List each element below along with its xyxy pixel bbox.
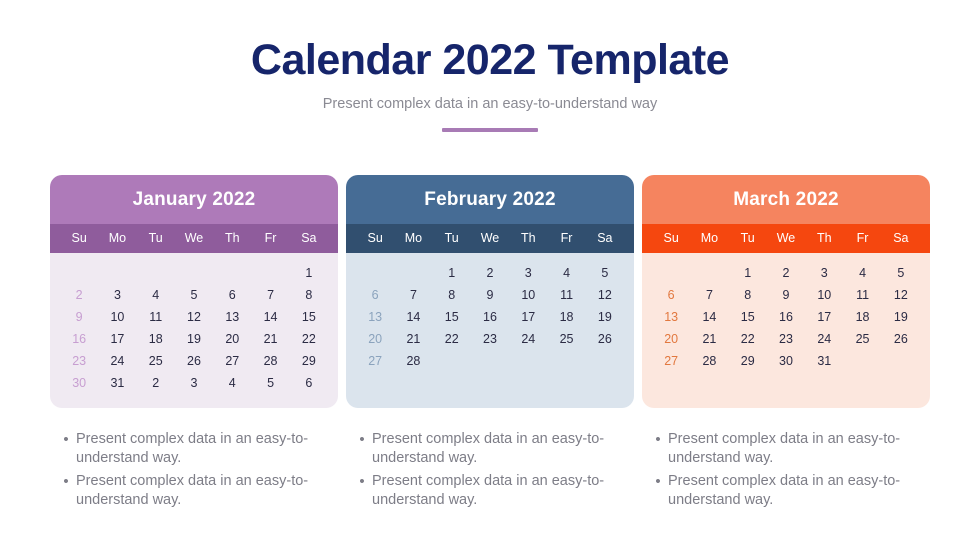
calendar-day-empty	[98, 265, 136, 282]
calendar-month-title: February 2022	[346, 175, 634, 224]
calendar-day-cell[interactable]: 3	[805, 265, 843, 282]
calendar-day-cell[interactable]: 5	[175, 287, 213, 304]
calendar-day-cell[interactable]: 14	[394, 309, 432, 326]
weekday-label-mo: Mo	[690, 231, 728, 245]
calendar-day-cell[interactable]: 3	[98, 287, 136, 304]
calendar-day-empty	[471, 375, 509, 392]
calendar-day-cell[interactable]: 24	[98, 353, 136, 370]
calendar-day-cell[interactable]: 1	[729, 265, 767, 282]
calendar-day-cell[interactable]: 24	[805, 331, 843, 348]
calendar-day-cell[interactable]: 25	[843, 331, 881, 348]
calendar-day-cell[interactable]: 23	[60, 353, 98, 370]
calendar-day-cell[interactable]: 26	[175, 353, 213, 370]
weekday-label-fr: Fr	[251, 231, 289, 245]
calendar-day-cell[interactable]: 28	[394, 353, 432, 370]
weekday-label-sa: Sa	[290, 231, 328, 245]
calendar-day-cell[interactable]: 17	[98, 331, 136, 348]
calendar-day-cell[interactable]: 11	[137, 309, 175, 326]
calendar-day-cell[interactable]: 14	[251, 309, 289, 326]
calendar-day-cell[interactable]: 23	[471, 331, 509, 348]
calendar-day-empty	[433, 353, 471, 370]
calendar-day-cell[interactable]: 10	[805, 287, 843, 304]
slide-header: Calendar 2022 Template Present complex d…	[0, 0, 980, 132]
list-item-text: Present complex data in an easy-to-under…	[668, 472, 906, 510]
weekday-label-we: We	[767, 231, 805, 245]
calendar-day-empty	[60, 265, 98, 282]
calendar-day-cell[interactable]: 24	[509, 331, 547, 348]
calendar-day-cell[interactable]: 18	[547, 309, 585, 326]
title-divider	[442, 128, 538, 132]
calendar-day-cell[interactable]: 21	[394, 331, 432, 348]
weekday-label-tu: Tu	[729, 231, 767, 245]
calendar-day-empty	[843, 375, 881, 392]
list-item-text: Present complex data in an easy-to-under…	[76, 430, 314, 468]
calendar-day-empty	[509, 353, 547, 370]
calendar-day-cell[interactable]: 10	[98, 309, 136, 326]
calendar-day-cell[interactable]: 15	[290, 309, 328, 326]
calendar-day-cell[interactable]: 1	[433, 265, 471, 282]
calendar-day-cell[interactable]: 28	[251, 353, 289, 370]
calendar-day-cell[interactable]: 30	[60, 375, 98, 392]
weekday-label-su: Su	[60, 231, 98, 245]
calendar-day-empty	[729, 375, 767, 392]
calendar-day-empty	[882, 353, 920, 370]
calendar-day-cell[interactable]: 22	[729, 331, 767, 348]
calendar-day-cell[interactable]: 13	[652, 309, 690, 326]
weekday-label-mo: Mo	[98, 231, 136, 245]
calendar-day-empty	[251, 265, 289, 282]
calendar-card-january: January 2022SuMoTuWeThFrSa 1234567891011…	[50, 175, 338, 408]
calendar-day-empty	[394, 265, 432, 282]
calendar-day-cell[interactable]: 18	[137, 331, 175, 348]
calendar-day-cell[interactable]: 8	[729, 287, 767, 304]
calendar-day-empty	[394, 375, 432, 392]
calendar-day-empty	[690, 265, 728, 282]
calendar-day-cell[interactable]: 2	[471, 265, 509, 282]
calendar-day-empty	[547, 375, 585, 392]
calendar-day-cell[interactable]: 13	[356, 309, 394, 326]
calendar-day-cell[interactable]: 31	[805, 353, 843, 370]
calendar-day-empty	[767, 375, 805, 392]
calendar-day-empty	[586, 353, 624, 370]
calendar-body: 1234567891011121314151617181920212223242…	[50, 253, 338, 408]
notes-column: •Present complex data in an easy-to-unde…	[346, 430, 634, 514]
calendar-weekday-header: SuMoTuWeThFrSa	[50, 224, 338, 253]
calendar-day-empty	[509, 375, 547, 392]
calendar-weekday-header: SuMoTuWeThFrSa	[346, 224, 634, 253]
list-item-text: Present complex data in an easy-to-under…	[372, 430, 610, 468]
page-title: Calendar 2022 Template	[0, 36, 980, 84]
weekday-label-th: Th	[509, 231, 547, 245]
notes-column: •Present complex data in an easy-to-unde…	[50, 430, 338, 514]
calendar-day-cell[interactable]: 5	[251, 375, 289, 392]
list-item-text: Present complex data in an easy-to-under…	[76, 472, 314, 510]
calendar-day-empty	[356, 375, 394, 392]
weekday-label-th: Th	[213, 231, 251, 245]
calendar-card-february: February 2022SuMoTuWeThFrSa 123456789101…	[346, 175, 634, 408]
calendar-day-cell[interactable]: 23	[767, 331, 805, 348]
calendar-day-cell[interactable]: 12	[882, 287, 920, 304]
calendar-day-cell[interactable]: 2	[60, 287, 98, 304]
weekday-label-tu: Tu	[137, 231, 175, 245]
notes-column: •Present complex data in an easy-to-unde…	[642, 430, 930, 514]
calendar-day-cell[interactable]: 4	[137, 287, 175, 304]
weekday-label-fr: Fr	[843, 231, 881, 245]
calendar-day-empty	[882, 375, 920, 392]
bullet-icon: •	[56, 430, 76, 449]
calendar-day-cell[interactable]: 20	[213, 331, 251, 348]
calendar-day-empty	[213, 265, 251, 282]
calendar-day-empty	[471, 353, 509, 370]
bullet-icon: •	[648, 430, 668, 449]
list-item: •Present complex data in an easy-to-unde…	[352, 430, 634, 468]
calendar-day-grid: 1234567891011121314151617181920212223242…	[60, 265, 328, 392]
calendar-day-empty	[652, 265, 690, 282]
calendar-day-cell[interactable]: 27	[652, 353, 690, 370]
calendar-day-cell[interactable]: 12	[175, 309, 213, 326]
list-item: •Present complex data in an easy-to-unde…	[56, 430, 338, 468]
calendar-day-cell[interactable]: 1	[290, 265, 328, 282]
bullet-icon: •	[648, 472, 668, 491]
calendar-card-march: March 2022SuMoTuWeThFrSa 123456789101112…	[642, 175, 930, 408]
calendar-day-cell[interactable]: 4	[547, 265, 585, 282]
calendar-day-cell[interactable]: 7	[690, 287, 728, 304]
list-item: •Present complex data in an easy-to-unde…	[56, 472, 338, 510]
calendar-day-cell[interactable]: 17	[509, 309, 547, 326]
calendar-day-cell[interactable]: 7	[394, 287, 432, 304]
calendar-day-cell[interactable]: 9	[767, 287, 805, 304]
calendar-day-cell[interactable]: 20	[652, 331, 690, 348]
calendar-body: 1234567891011121314151617181920212223242…	[346, 253, 634, 408]
calendar-day-cell[interactable]: 16	[471, 309, 509, 326]
calendar-day-grid: 1234567891011121314151617181920212223242…	[356, 265, 624, 392]
calendar-month-title: January 2022	[50, 175, 338, 224]
calendar-day-cell[interactable]: 5	[586, 265, 624, 282]
weekday-label-sa: Sa	[882, 231, 920, 245]
calendar-day-cell[interactable]: 30	[767, 353, 805, 370]
calendar-day-cell[interactable]: 16	[60, 331, 98, 348]
list-item: •Present complex data in an easy-to-unde…	[352, 472, 634, 510]
calendar-day-cell[interactable]: 26	[586, 331, 624, 348]
calendar-day-empty	[690, 375, 728, 392]
notes-row: •Present complex data in an easy-to-unde…	[50, 430, 930, 514]
calendar-day-cell[interactable]: 22	[433, 331, 471, 348]
calendar-month-title: March 2022	[642, 175, 930, 224]
calendar-day-cell[interactable]: 11	[843, 287, 881, 304]
list-item-text: Present complex data in an easy-to-under…	[668, 430, 906, 468]
bullet-icon: •	[56, 472, 76, 491]
bullet-icon: •	[352, 472, 372, 491]
calendar-day-cell[interactable]: 4	[843, 265, 881, 282]
calendar-day-cell[interactable]: 19	[175, 331, 213, 348]
calendar-day-cell[interactable]: 9	[471, 287, 509, 304]
calendar-day-cell[interactable]: 6	[356, 287, 394, 304]
list-item: •Present complex data in an easy-to-unde…	[648, 430, 930, 468]
weekday-label-su: Su	[652, 231, 690, 245]
bullet-icon: •	[352, 430, 372, 449]
weekday-label-we: We	[471, 231, 509, 245]
calendar-day-cell[interactable]: 3	[175, 375, 213, 392]
calendar-day-cell[interactable]: 2	[137, 375, 175, 392]
calendar-day-cell[interactable]: 29	[729, 353, 767, 370]
calendar-day-empty	[175, 265, 213, 282]
calendar-day-cell[interactable]: 22	[290, 331, 328, 348]
weekday-label-mo: Mo	[394, 231, 432, 245]
calendar-day-cell[interactable]: 15	[729, 309, 767, 326]
calendar-day-cell[interactable]: 28	[690, 353, 728, 370]
weekday-label-su: Su	[356, 231, 394, 245]
calendar-day-cell[interactable]: 6	[652, 287, 690, 304]
calendar-day-empty	[805, 375, 843, 392]
calendar-day-cell[interactable]: 29	[290, 353, 328, 370]
weekday-label-th: Th	[805, 231, 843, 245]
calendar-day-cell[interactable]: 8	[290, 287, 328, 304]
weekday-label-sa: Sa	[586, 231, 624, 245]
calendar-day-cell[interactable]: 27	[213, 353, 251, 370]
calendar-day-empty	[356, 265, 394, 282]
calendar-day-empty	[843, 353, 881, 370]
page-subtitle: Present complex data in an easy-to-under…	[0, 96, 980, 112]
weekday-label-tu: Tu	[433, 231, 471, 245]
calendar-day-cell[interactable]: 25	[547, 331, 585, 348]
list-item-text: Present complex data in an easy-to-under…	[372, 472, 610, 510]
calendar-day-cell[interactable]: 14	[690, 309, 728, 326]
calendar-day-cell[interactable]: 12	[586, 287, 624, 304]
calendar-day-empty	[652, 375, 690, 392]
calendar-day-cell[interactable]: 9	[60, 309, 98, 326]
calendar-row: January 2022SuMoTuWeThFrSa 1234567891011…	[50, 175, 930, 408]
calendar-day-cell[interactable]: 6	[213, 287, 251, 304]
calendar-day-grid: 1234567891011121314151617181920212223242…	[652, 265, 920, 392]
calendar-day-cell[interactable]: 31	[98, 375, 136, 392]
calendar-day-cell[interactable]: 7	[251, 287, 289, 304]
calendar-day-cell[interactable]: 11	[547, 287, 585, 304]
calendar-day-cell[interactable]: 19	[882, 309, 920, 326]
calendar-day-cell[interactable]: 21	[690, 331, 728, 348]
list-item: •Present complex data in an easy-to-unde…	[648, 472, 930, 510]
calendar-day-cell[interactable]: 10	[509, 287, 547, 304]
calendar-body: 1234567891011121314151617181920212223242…	[642, 253, 930, 408]
calendar-day-cell[interactable]: 13	[213, 309, 251, 326]
calendar-day-empty	[547, 353, 585, 370]
calendar-weekday-header: SuMoTuWeThFrSa	[642, 224, 930, 253]
calendar-day-cell[interactable]: 5	[882, 265, 920, 282]
calendar-day-cell[interactable]: 2	[767, 265, 805, 282]
calendar-day-cell[interactable]: 3	[509, 265, 547, 282]
weekday-label-fr: Fr	[547, 231, 585, 245]
calendar-day-empty	[433, 375, 471, 392]
calendar-day-cell[interactable]: 20	[356, 331, 394, 348]
calendar-day-cell[interactable]: 27	[356, 353, 394, 370]
calendar-day-cell[interactable]: 4	[213, 375, 251, 392]
calendar-day-cell[interactable]: 8	[433, 287, 471, 304]
calendar-day-cell[interactable]: 21	[251, 331, 289, 348]
calendar-day-cell[interactable]: 15	[433, 309, 471, 326]
calendar-day-cell[interactable]: 6	[290, 375, 328, 392]
calendar-day-cell[interactable]: 18	[843, 309, 881, 326]
calendar-day-empty	[586, 375, 624, 392]
calendar-day-cell[interactable]: 25	[137, 353, 175, 370]
calendar-day-cell[interactable]: 16	[767, 309, 805, 326]
calendar-day-cell[interactable]: 26	[882, 331, 920, 348]
calendar-day-empty	[137, 265, 175, 282]
calendar-day-cell[interactable]: 17	[805, 309, 843, 326]
calendar-day-cell[interactable]: 19	[586, 309, 624, 326]
weekday-label-we: We	[175, 231, 213, 245]
